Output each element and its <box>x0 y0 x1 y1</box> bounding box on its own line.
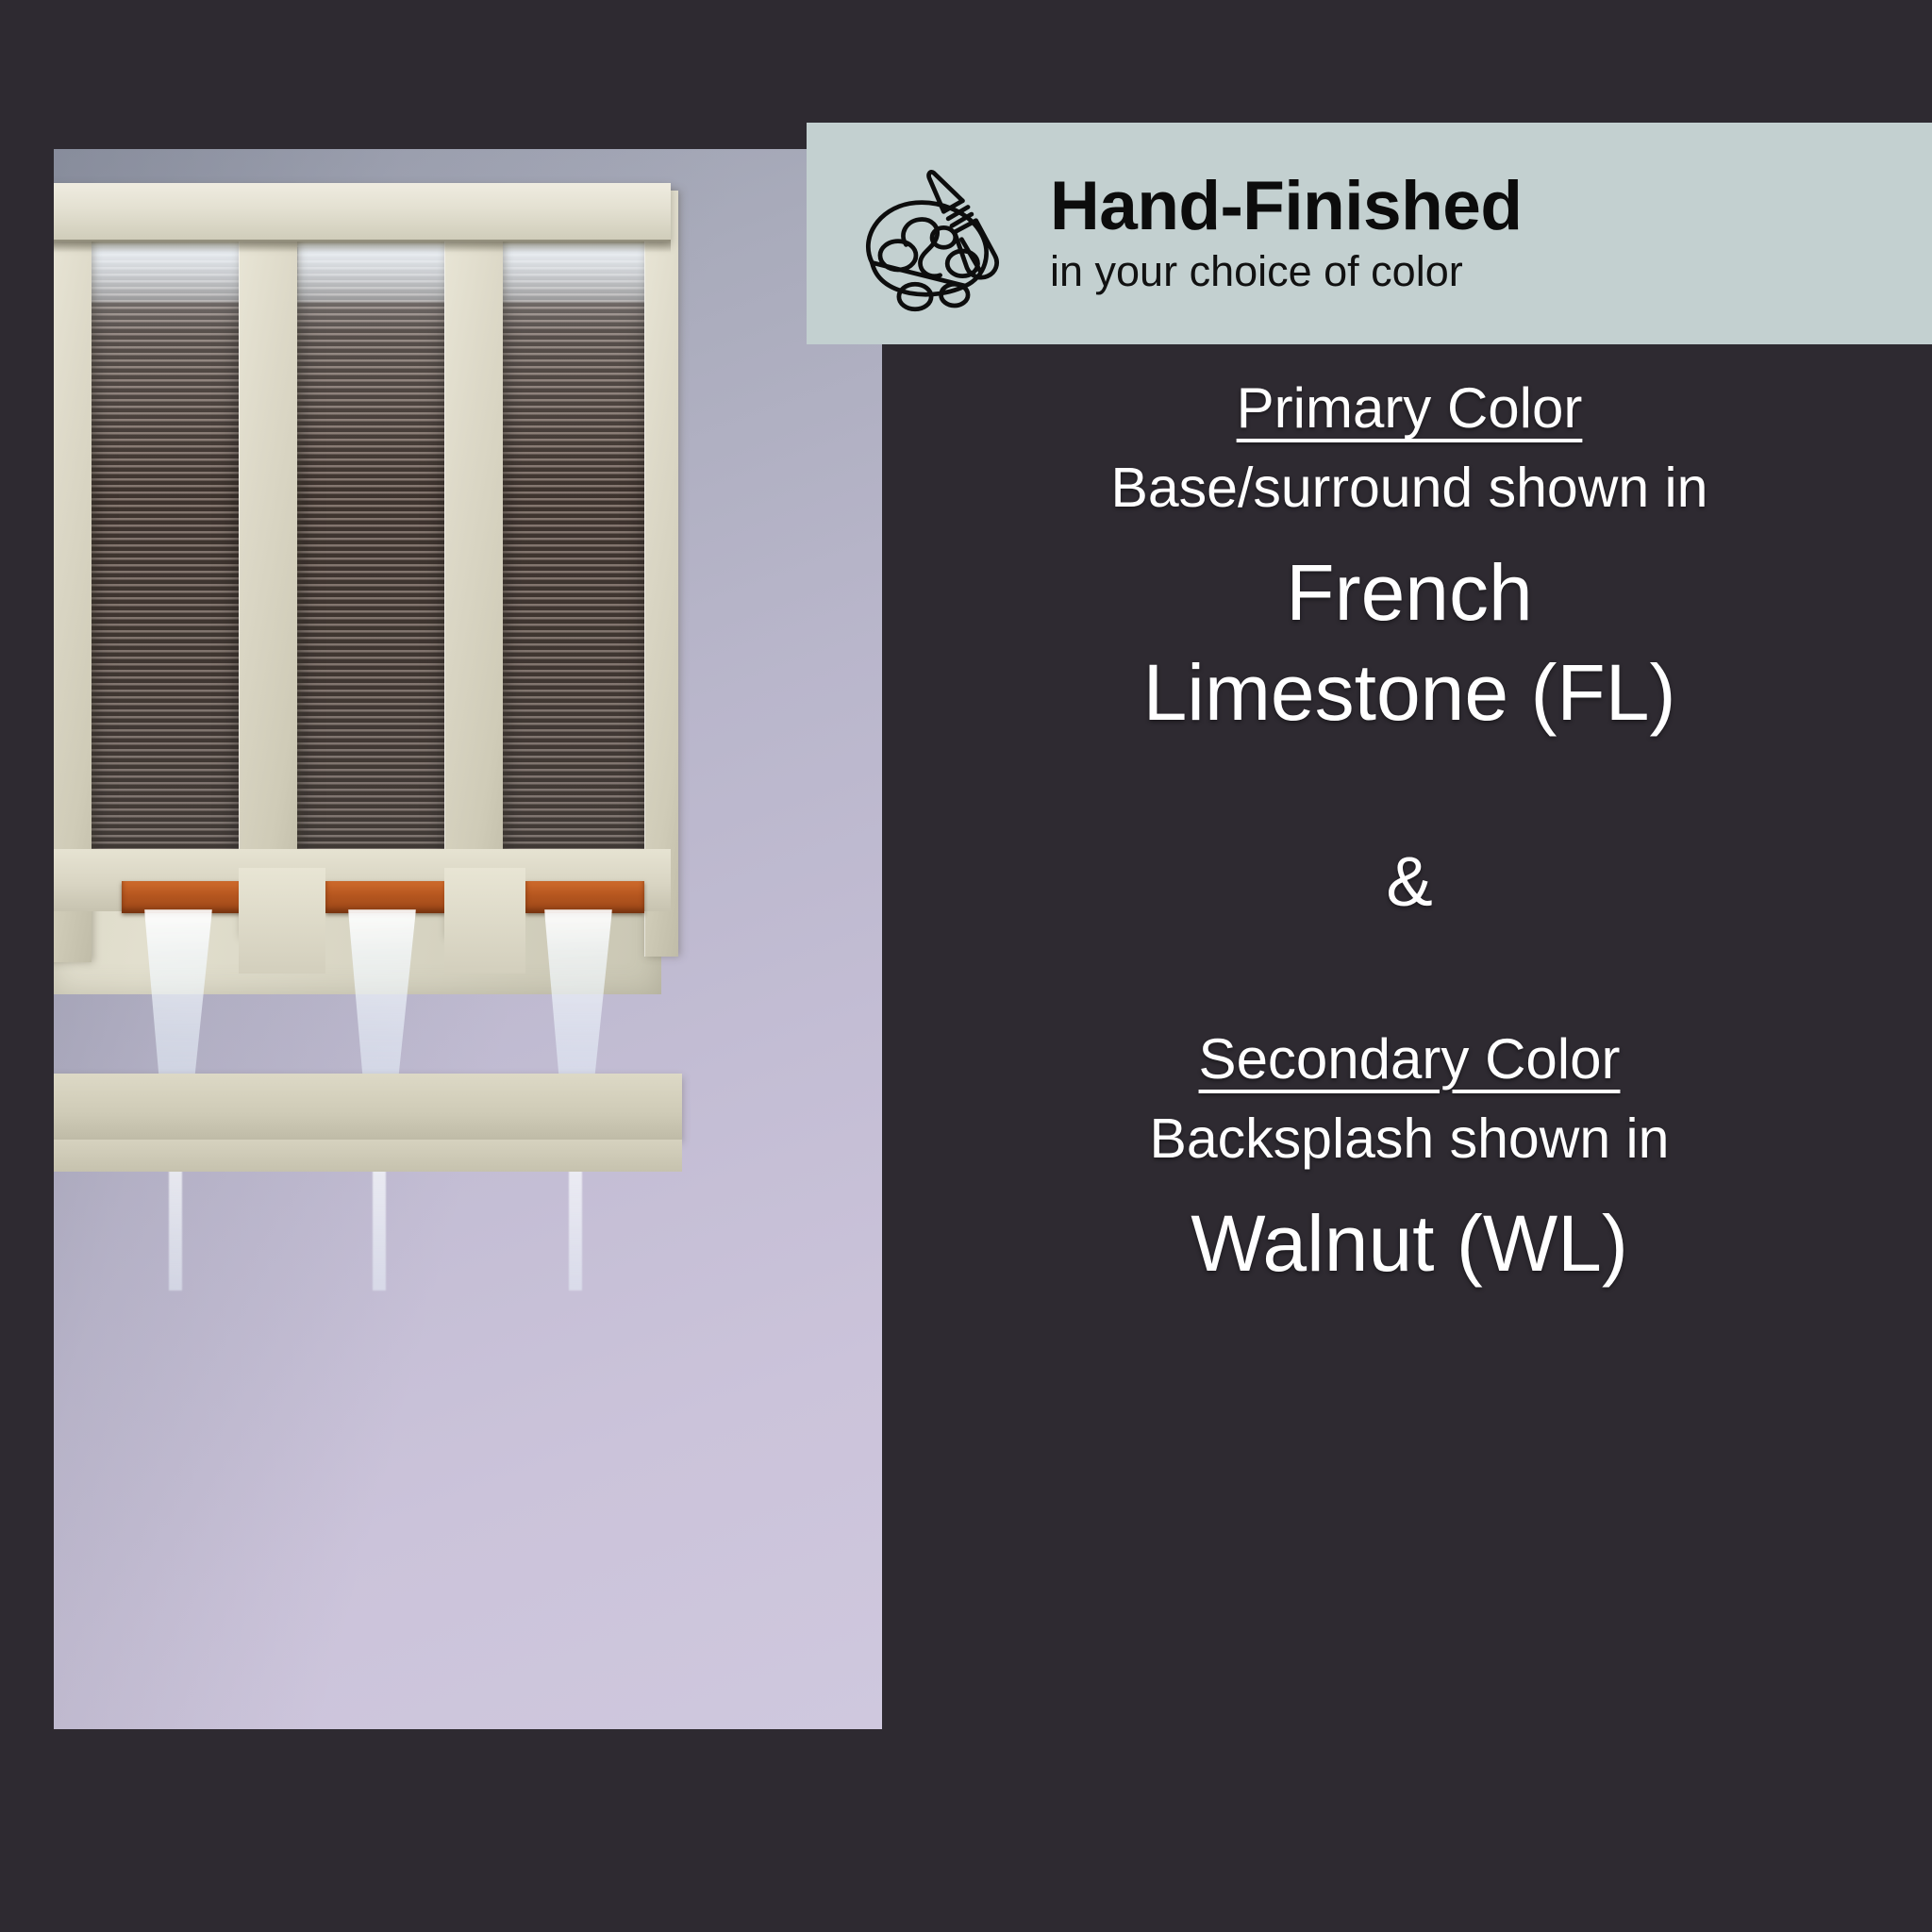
badge-text-block: Hand-Finished in your choice of color <box>1050 171 1522 295</box>
pilaster-middle-2 <box>444 191 503 938</box>
secondary-color-heading: Secondary Color <box>1199 1028 1621 1091</box>
backsplash-panel-3 <box>501 247 648 860</box>
badge-title: Hand-Finished <box>1050 171 1522 242</box>
product-color-callout-canvas: Hand-Finished in your choice of color Pr… <box>0 0 1932 1932</box>
primary-color-heading: Primary Color <box>1237 377 1583 440</box>
badge-subtitle: in your choice of color <box>1050 248 1522 295</box>
paint-palette-brush-icon <box>841 144 1025 324</box>
hand-finished-badge: Hand-Finished in your choice of color <box>807 123 1932 344</box>
secondary-color-subline: Backsplash shown in <box>1150 1108 1670 1170</box>
secondary-color-name-line-1: Walnut (WL) <box>1191 1194 1628 1294</box>
fountain-top-cap <box>54 183 671 241</box>
pilaster-middle-1 <box>239 191 297 938</box>
fountain-top-cap-shadow <box>54 240 671 253</box>
copper-spout-3 <box>525 881 644 913</box>
backsplash-panel-1 <box>90 247 241 860</box>
copper-spout-2 <box>325 881 446 913</box>
primary-color-name-line-1: French <box>1286 543 1532 643</box>
pilaster-left <box>54 191 92 962</box>
fountain-basin <box>54 1057 882 1729</box>
spout-divider-block-2 <box>444 868 525 974</box>
pilaster-right <box>644 191 678 957</box>
backsplash-panel-2 <box>297 247 448 860</box>
spout-divider-block-1 <box>239 868 325 974</box>
copper-spout-1 <box>122 881 242 913</box>
color-info-panel: Primary Color Base/surround shown in Fre… <box>887 377 1932 1792</box>
primary-color-name-line-2: Limestone (FL) <box>1143 643 1676 743</box>
product-photo <box>54 149 882 1729</box>
ampersand-separator: & <box>1386 847 1432 917</box>
primary-color-subline: Base/surround shown in <box>1111 457 1708 519</box>
